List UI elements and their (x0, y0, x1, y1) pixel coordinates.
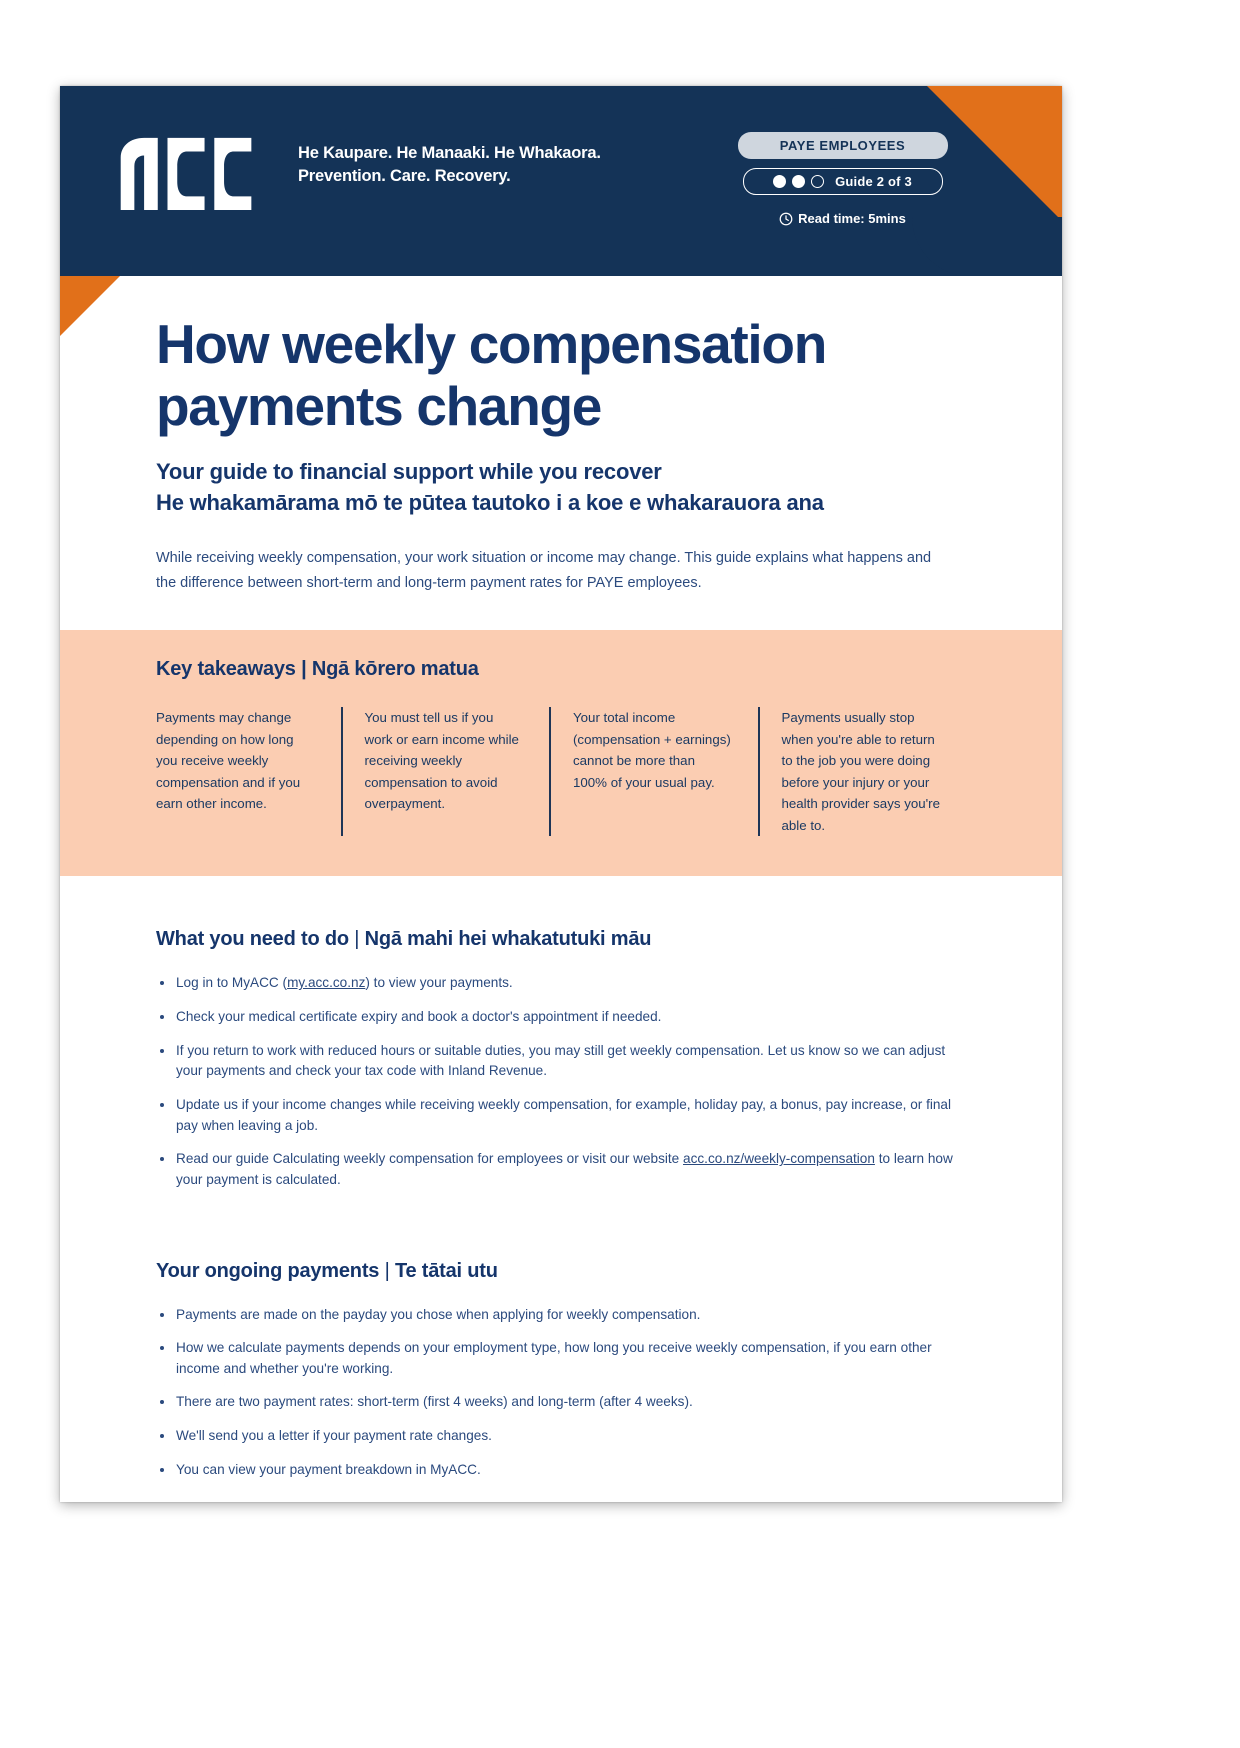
list-item: Log in to MyACC (my.acc.co.nz) to view y… (156, 973, 966, 994)
list-item-text: Log in to MyACC ( (176, 975, 287, 990)
key-takeaways-columns: Payments may change depending on how lon… (156, 707, 966, 836)
document-body: How weekly compensation payments change … (60, 276, 1062, 1480)
ongoing-payments-list: Payments are made on the payday you chos… (156, 1305, 966, 1481)
list-item-text: Payments are made on the payday you chos… (176, 1307, 700, 1322)
clock-icon (779, 212, 793, 226)
list-item: Update us if your income changes while r… (156, 1095, 966, 1136)
list-item-text: You can view your payment breakdown in M… (176, 1462, 481, 1477)
key-takeaways-section: Key takeaways | Ngā kōrero matua Payment… (60, 630, 1062, 876)
audience-badge: PAYE EMPLOYEES (738, 132, 948, 159)
takeaway-item: Payments usually stop when you're able t… (758, 707, 967, 836)
ongoing-payments-heading: Your ongoing payments | Te tātai utu (156, 1260, 966, 1283)
what-you-need-to-do-list: Log in to MyACC (my.acc.co.nz) to view y… (156, 973, 966, 1190)
acc-tagline: He Kaupare. He Manaaki. He Whakaora. Pre… (298, 142, 601, 189)
list-item: Payments are made on the payday you chos… (156, 1305, 966, 1326)
inline-link[interactable]: acc.co.nz/weekly-compensation (683, 1151, 875, 1166)
list-item: How we calculate payments depends on you… (156, 1338, 966, 1379)
takeaway-item: Payments may change depending on how lon… (156, 707, 341, 836)
list-item: We'll send you a letter if your payment … (156, 1426, 966, 1447)
list-item: If you return to work with reduced hours… (156, 1041, 966, 1082)
key-takeaways-heading-separator: | (296, 658, 312, 680)
key-takeaways-heading-english: Key takeaways (156, 658, 296, 680)
ongoing-payments-heading-english: Your ongoing payments (156, 1260, 379, 1282)
read-time: Read time: 5mins (779, 211, 906, 226)
ongoing-payments-section: Your ongoing payments | Te tātai utu Pay… (60, 1204, 1062, 1481)
what-you-need-to-do-heading-english: What you need to do (156, 928, 349, 950)
what-you-need-to-do-heading: What you need to do | Ngā mahi hei whaka… (156, 928, 966, 951)
list-item-text: If you return to work with reduced hours… (176, 1043, 945, 1079)
list-item-text: How we calculate payments depends on you… (176, 1340, 932, 1376)
list-item: You can view your payment breakdown in M… (156, 1460, 966, 1481)
guide-progress-badge: Guide 2 of 3 (743, 168, 943, 195)
progress-dot-3-icon (811, 175, 824, 188)
list-item-text: Update us if your income changes while r… (176, 1097, 951, 1133)
list-item: There are two payment rates: short-term … (156, 1392, 966, 1413)
list-item: Read our guide Calculating weekly compen… (156, 1149, 966, 1190)
ongoing-payments-heading-maori: Te tātai utu (395, 1260, 498, 1282)
list-item-text: Read our guide Calculating weekly compen… (176, 1151, 683, 1166)
list-item-text: There are two payment rates: short-term … (176, 1394, 693, 1409)
what-you-need-to-do-section: What you need to do | Ngā mahi hei whaka… (60, 876, 1062, 1190)
intro-paragraph: While receiving weekly compensation, you… (156, 546, 936, 596)
takeaway-item: You must tell us if you work or earn inc… (341, 707, 550, 836)
ongoing-payments-heading-separator: | (379, 1260, 395, 1282)
key-takeaways-heading-maori: Ngā kōrero matua (312, 658, 479, 680)
takeaway-item: Your total income (compensation + earnin… (549, 707, 758, 836)
progress-dot-1-icon (773, 175, 786, 188)
list-item-text: Check your medical certificate expiry an… (176, 1009, 661, 1024)
what-you-need-to-do-heading-maori: Ngā mahi hei whakatutuki māu (365, 928, 652, 950)
what-you-need-to-do-heading-separator: | (349, 928, 365, 950)
key-takeaways-heading: Key takeaways | Ngā kōrero matua (156, 658, 966, 681)
list-item-text: ) to view your payments. (365, 975, 512, 990)
document-header: He Kaupare. He Manaaki. He Whakaora. Pre… (60, 86, 1062, 276)
acc-logo-icon (108, 134, 266, 212)
progress-dot-2-icon (792, 175, 805, 188)
tagline-english: Prevention. Care. Recovery. (298, 165, 601, 188)
subtitle-english: Your guide to financial support while yo… (156, 459, 990, 485)
header-badges: PAYE EMPLOYEES Guide 2 of 3 Read time: 5… (735, 132, 950, 226)
guide-progress-label: Guide 2 of 3 (835, 174, 912, 189)
list-item: Check your medical certificate expiry an… (156, 1007, 966, 1028)
document-sheet: He Kaupare. He Manaaki. He Whakaora. Pre… (60, 86, 1062, 1502)
list-item-text: We'll send you a letter if your payment … (176, 1428, 492, 1443)
read-time-label: Read time: 5mins (798, 211, 906, 226)
subtitle-maori: He whakamārama mō te pūtea tautoko i a k… (156, 490, 990, 516)
page-title: How weekly compensation payments change (156, 314, 990, 437)
inline-link[interactable]: my.acc.co.nz (287, 975, 365, 990)
tagline-maori: He Kaupare. He Manaaki. He Whakaora. (298, 142, 601, 165)
